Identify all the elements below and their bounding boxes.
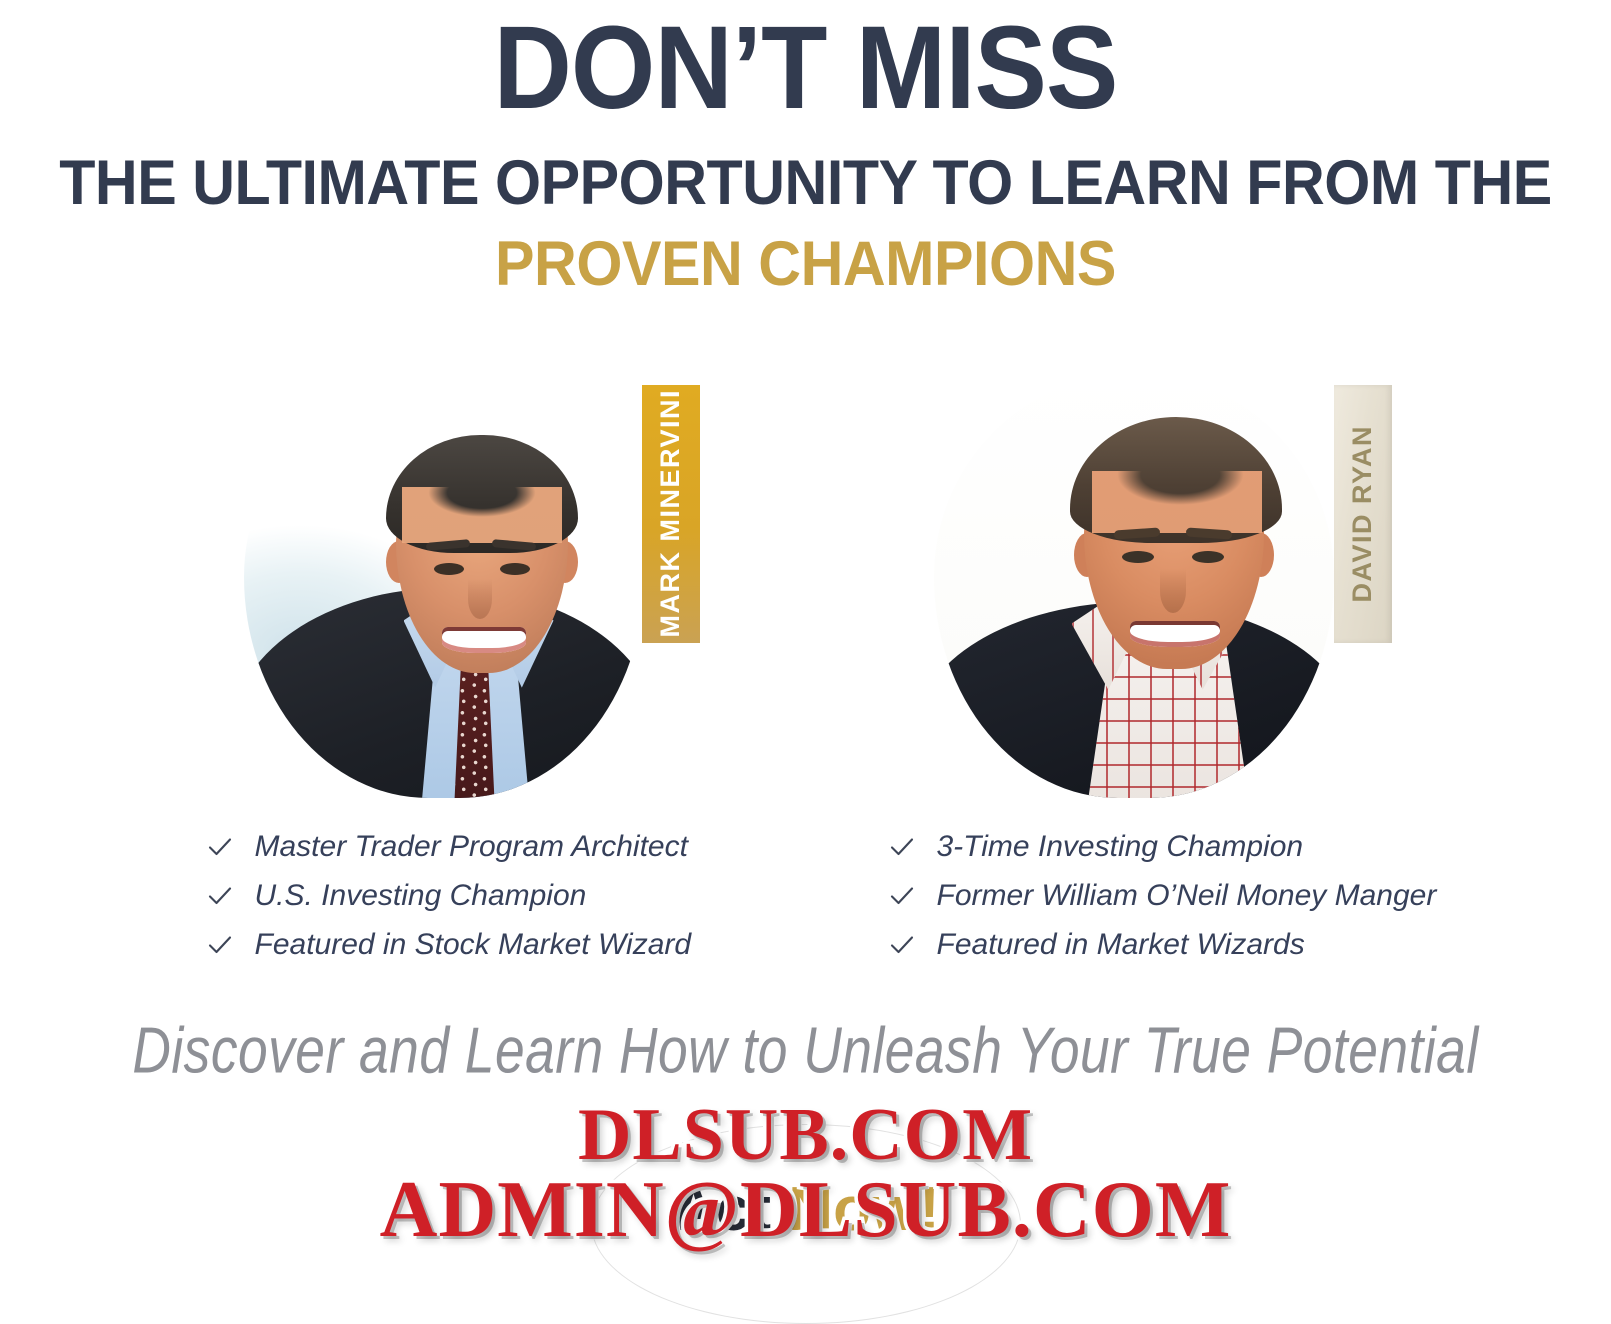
list-item: 3-Time Investing Champion xyxy=(889,823,1421,872)
check-icon xyxy=(889,834,915,860)
speaker-name-banner-david-ryan: DAVID RYAN xyxy=(1334,385,1392,643)
credential-text: Master Trader Program Architect xyxy=(255,830,688,864)
list-item: U.S. Investing Champion xyxy=(207,872,731,921)
list-item: Former William O’Neil Money Manger xyxy=(889,872,1421,921)
speaker-portrait-mark-minervini xyxy=(244,373,644,798)
credential-text: Former William O’Neil Money Manger xyxy=(937,879,1437,913)
headline-line-2: THE ULTIMATE OPPORTUNITY TO LEARN FROM T… xyxy=(48,150,1562,216)
tagline: Discover and Learn How to Unleash Your T… xyxy=(24,1012,1587,1088)
headline-line-3: PROVEN CHAMPIONS xyxy=(48,231,1562,297)
check-icon xyxy=(889,883,915,909)
speaker-name-label: MARK MINERVINI xyxy=(655,389,686,638)
speaker-credentials-list: Master Trader Program Architect U.S. Inv… xyxy=(191,823,731,970)
credential-text: Featured in Stock Market Wizard xyxy=(255,928,692,962)
check-icon xyxy=(207,932,233,958)
headline-block: DON’T MISS THE ULTIMATE OPPORTUNITY TO L… xyxy=(0,0,1611,297)
speaker-photo-wrap: MARK MINERVINI xyxy=(191,365,731,815)
check-icon xyxy=(207,834,233,860)
speakers-section: MARK MINERVINI Master Trader Program Arc… xyxy=(0,365,1611,970)
credential-text: U.S. Investing Champion xyxy=(255,879,587,913)
speaker-card-mark-minervini: MARK MINERVINI Master Trader Program Arc… xyxy=(191,365,731,970)
speaker-name-banner-mark-minervini: MARK MINERVINI xyxy=(642,385,700,643)
speaker-credentials-list: 3-Time Investing Champion Former William… xyxy=(881,823,1421,970)
list-item: Master Trader Program Architect xyxy=(207,823,731,872)
speaker-photo-wrap: DAVID RYAN xyxy=(881,365,1421,815)
list-item: Featured in Stock Market Wizard xyxy=(207,921,731,970)
check-icon xyxy=(889,932,915,958)
credential-text: Featured in Market Wizards xyxy=(937,928,1305,962)
speaker-name-label: DAVID RYAN xyxy=(1347,425,1378,603)
watermark-email: ADMIN@DLSUB.COM xyxy=(380,1165,1232,1256)
speaker-portrait-david-ryan xyxy=(934,373,1334,798)
headline-line-1: DON’T MISS xyxy=(64,8,1546,128)
speaker-card-david-ryan: DAVID RYAN 3-Time Investing Champion For… xyxy=(881,365,1421,970)
credential-text: 3-Time Investing Champion xyxy=(937,830,1304,864)
check-icon xyxy=(207,883,233,909)
list-item: Featured in Market Wizards xyxy=(889,921,1421,970)
